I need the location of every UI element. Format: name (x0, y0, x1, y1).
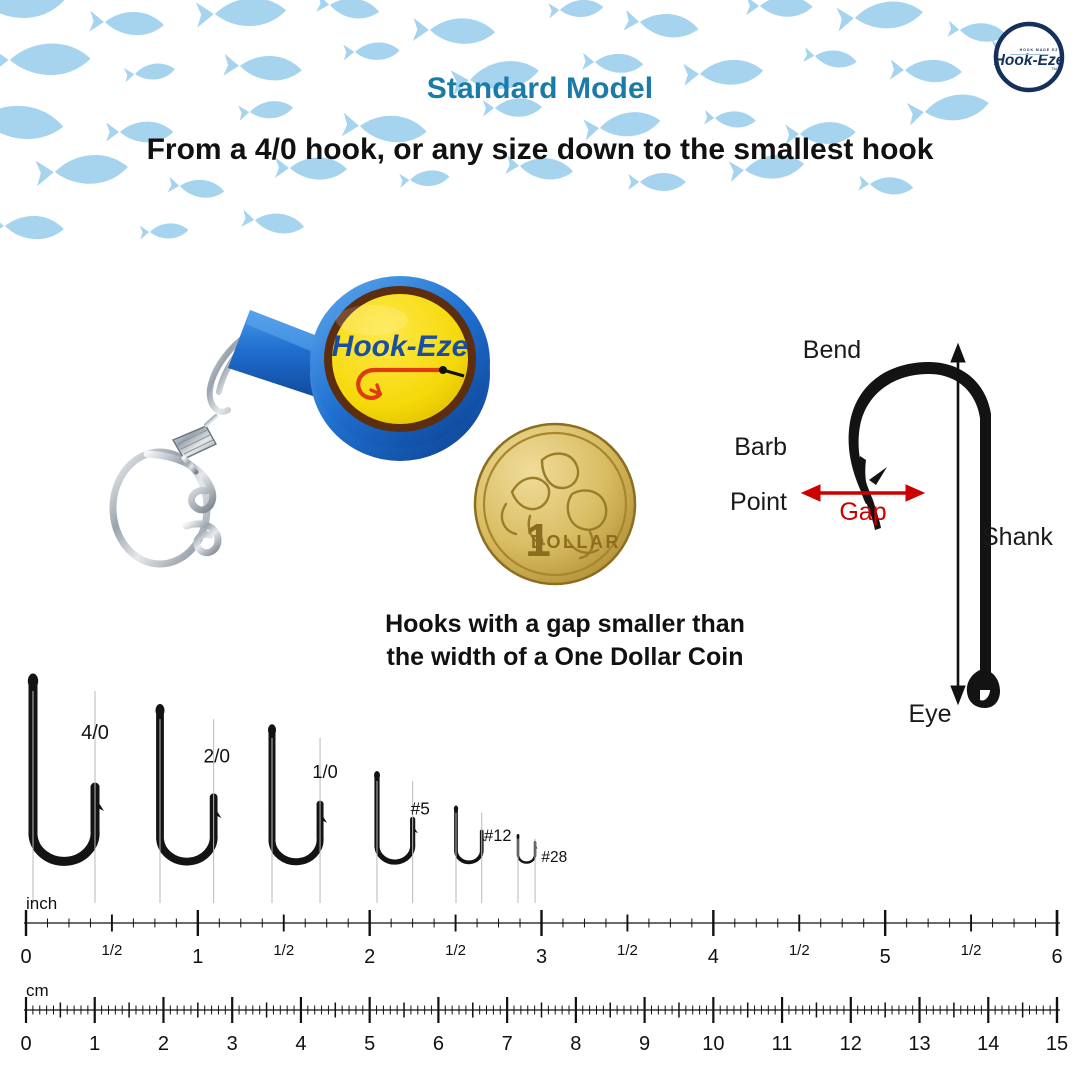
ruler-inch-label: 6 (1051, 946, 1062, 968)
fish-silhouette (316, 0, 380, 21)
fish-silhouette (241, 209, 305, 237)
ruler-inch-label: 0 (20, 946, 31, 968)
fish-silhouette (858, 175, 914, 197)
ruler-cm-label: 2 (158, 1033, 169, 1055)
ruler-inch-label: 4 (708, 946, 719, 968)
coin-photo: 1 DOLLAR (472, 420, 638, 588)
label-bend: Bend (803, 336, 861, 364)
infographic-canvas: Standard Model From a 4/0 hook, or any s… (0, 0, 1080, 1080)
split-ring (113, 452, 218, 564)
product-head: Hook-Eze (310, 276, 490, 461)
ruler-cm-label: 10 (702, 1033, 724, 1055)
label-barb: Barb (734, 433, 787, 461)
ruler-cm-label: 0 (20, 1033, 31, 1055)
ruler-inch-label: 1/2 (789, 942, 810, 959)
fish-silhouette (0, 0, 69, 26)
ruler-inch-unit-label: inch (26, 894, 57, 913)
ruler-inch-label: 1/2 (961, 942, 982, 959)
ruler-cm-label: 5 (364, 1033, 375, 1055)
ruler-cm-label: 15 (1046, 1033, 1068, 1055)
fish-silhouette (836, 0, 924, 33)
logo-trademark: TM (1051, 66, 1057, 71)
label-eye: Eye (908, 700, 951, 728)
fish-silhouette (413, 17, 496, 45)
fish-silhouette (803, 46, 858, 70)
fish-silhouette (746, 0, 813, 17)
fish-silhouette (399, 169, 450, 189)
hook-size-label: #5 (411, 799, 430, 819)
fish-background-pattern (0, 0, 1080, 250)
brand-logo[interactable]: HOOK MADE EZ Hook-Eze TM (990, 18, 1068, 96)
fish-silhouette (582, 52, 644, 74)
ruler-cm-label: 13 (908, 1033, 930, 1055)
hook-size-label: 1/0 (312, 762, 337, 782)
fish-silhouette (140, 222, 189, 240)
ruler-cm-label: 6 (433, 1033, 444, 1055)
ruler-inch-label: 1/2 (445, 942, 466, 959)
ruler-inch-label: 1/2 (273, 942, 294, 959)
hook-anatomy-diagram: Bend Barb Point Eye Shank Gap (690, 330, 1080, 760)
ruler-cm-label: 4 (295, 1033, 306, 1055)
page-title: Standard Model (0, 72, 1080, 106)
hook-size-label: 4/0 (81, 722, 109, 744)
fish-silhouette (196, 0, 287, 29)
page-subtitle: From a 4/0 hook, or any size down to the… (0, 130, 1080, 170)
ruler-inch: inch 01/211/221/231/241/251/26 (0, 893, 1080, 975)
fish-silhouette (0, 214, 64, 241)
label-shank: Shank (982, 523, 1053, 551)
ruler-cm-label: 3 (227, 1033, 238, 1055)
ruler-cm-label: 8 (570, 1033, 581, 1055)
ruler-inch-label: 3 (536, 946, 547, 968)
label-gap: Gap (839, 498, 886, 526)
logo-wordmark-group: HOOK MADE EZ Hook-Eze TM (994, 48, 1065, 71)
fish-silhouette (624, 9, 700, 41)
coin-caption: Hooks with a gap smaller than the width … (380, 608, 750, 673)
ruler-inch-label: 1 (192, 946, 203, 968)
hook-size-comparison: 4/02/01/0#5#12#28 (0, 655, 600, 905)
product-label-text: Hook-Eze (332, 330, 469, 363)
fish-silhouette (548, 0, 604, 19)
hook-size-10 (268, 724, 327, 861)
ruler-cm-label: 14 (977, 1033, 999, 1055)
ruler-cm: cm 0123456789101112131415 (0, 978, 1080, 1078)
hook-size-28 (517, 834, 538, 863)
coin-body (475, 424, 635, 584)
product-photo: Hook-Eze (100, 258, 530, 603)
ruler-inch-label: 2 (364, 946, 375, 968)
hook-size-label: 2/0 (203, 747, 230, 768)
hook-size-40 (28, 674, 104, 862)
fish-silhouette (168, 176, 226, 200)
fish-silhouette (89, 10, 164, 37)
ruler-cm-label: 12 (840, 1033, 862, 1055)
fish-silhouette (704, 109, 756, 129)
ruler-cm-label: 9 (639, 1033, 650, 1055)
hook-size-12 (454, 806, 486, 863)
ruler-cm-label: 7 (502, 1033, 513, 1055)
fish-silhouette (343, 42, 400, 61)
ruler-inch-label: 1/2 (101, 942, 122, 959)
anatomy-hook-shape (849, 362, 1000, 708)
ruler-cm-unit-label: cm (26, 981, 49, 1000)
coin-legend: DOLLAR (531, 532, 621, 552)
hook-size-label: #28 (541, 849, 567, 866)
ruler-cm-label: 1 (89, 1033, 100, 1055)
ruler-inch-label: 5 (880, 946, 891, 968)
hook-size-label: #12 (484, 827, 511, 845)
fish-silhouette (628, 173, 686, 191)
label-point: Point (730, 488, 787, 516)
hook-size-20 (156, 704, 222, 862)
ruler-cm-label: 11 (772, 1033, 793, 1055)
shank-measure-arrow (951, 344, 965, 704)
ruler-inch-label: 1/2 (617, 942, 638, 959)
